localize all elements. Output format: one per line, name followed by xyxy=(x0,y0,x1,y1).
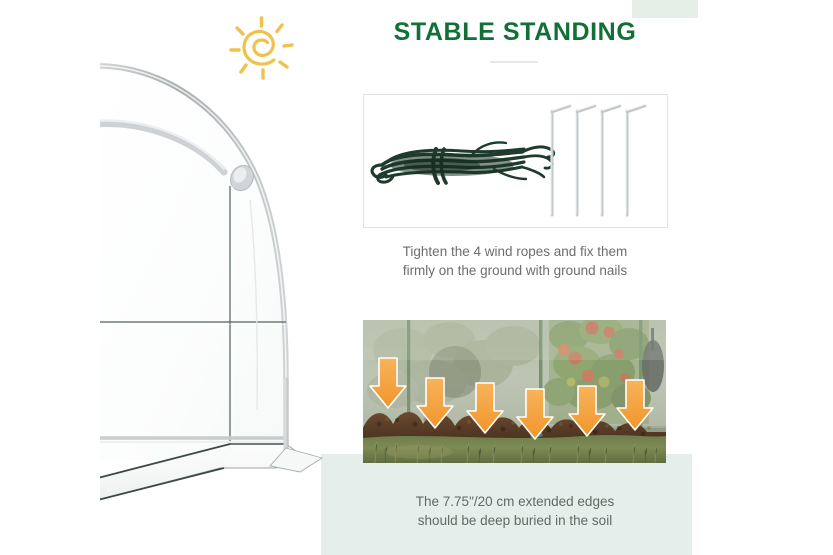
infographic-canvas: STABLE STANDING xyxy=(0,0,833,555)
title-divider xyxy=(490,61,538,63)
caption-line: The 7.75"/20 cm extended edges xyxy=(345,492,685,511)
right-content-column: STABLE STANDING xyxy=(345,0,685,555)
caption-wind-ropes: Tighten the 4 wind ropes and fix them fi… xyxy=(345,242,685,280)
caption-line: Tighten the 4 wind ropes and fix them xyxy=(345,242,685,261)
caption-line: firmly on the ground with ground nails xyxy=(345,261,685,280)
caption-line: should be deep buried in the soil xyxy=(345,511,685,530)
greenhouse-tunnel-illustration xyxy=(100,50,340,505)
page-title: STABLE STANDING xyxy=(345,18,685,47)
accessories-panel xyxy=(363,94,668,228)
sun-icon xyxy=(224,12,302,87)
caption-buried-edges: The 7.75"/20 cm extended edges should be… xyxy=(345,492,685,530)
soil-photo xyxy=(363,320,666,463)
